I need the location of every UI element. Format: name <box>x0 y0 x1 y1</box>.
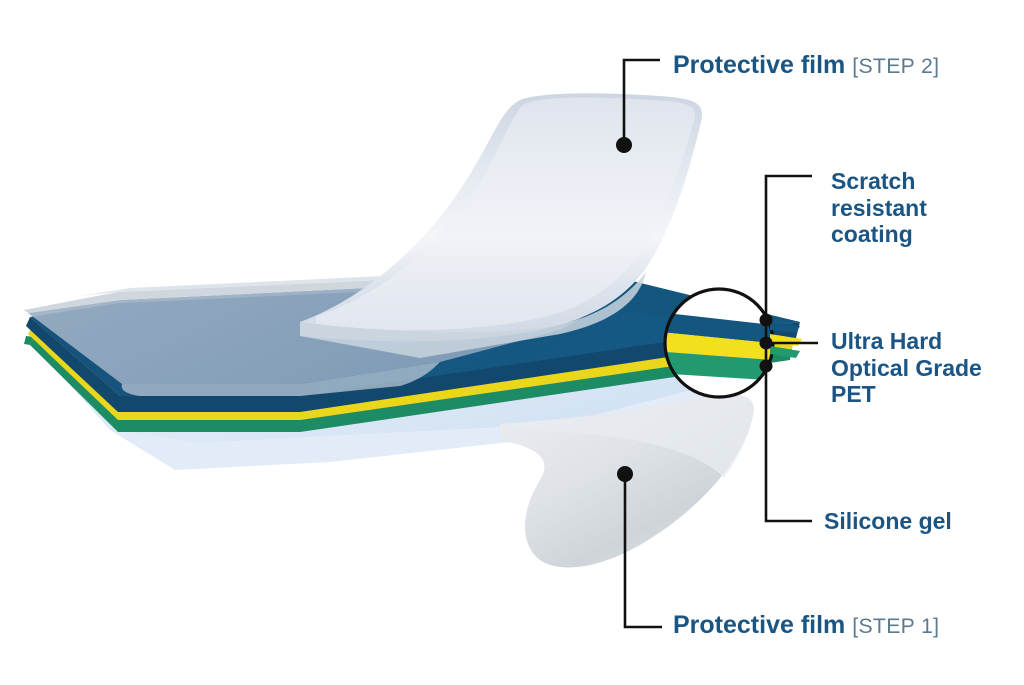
dot-scratch-resistant-coating <box>760 314 773 327</box>
dot-silicone-gel <box>760 360 773 373</box>
label-protective-film-top-step: [STEP 2] <box>852 54 939 78</box>
dot-protective-film-bottom <box>617 466 633 482</box>
label-ultra-line-3: PET <box>831 381 982 408</box>
label-protective-film-bottom-step: [STEP 1] <box>852 614 939 638</box>
label-protective-film-top-name: Protective film <box>673 51 845 79</box>
label-ultra-line-1: Ultra Hard <box>831 328 982 355</box>
label-silicone-gel-name: Silicone gel <box>824 508 952 535</box>
label-scratch-line-1: Scratch <box>831 168 927 195</box>
layer-tips-right <box>770 322 802 358</box>
label-scratch-line-2: resistant <box>831 195 927 222</box>
diagram-canvas: Protective film [STEP 2] Scratch resista… <box>0 0 1024 685</box>
label-scratch-resistant-coating: Scratch resistant coating <box>831 168 927 248</box>
label-ultra-line-2: Optical Grade <box>831 355 982 382</box>
label-ultra-hard-pet: Ultra Hard Optical Grade PET <box>831 328 982 408</box>
label-scratch-line-3: coating <box>831 221 927 248</box>
label-protective-film-bottom-name: Protective film <box>673 611 845 639</box>
dot-protective-film-top <box>616 137 632 153</box>
label-silicone-gel: Silicone gel <box>824 508 952 535</box>
dot-ultra-hard-pet <box>760 337 773 350</box>
label-protective-film-top: Protective film [STEP 2] <box>673 51 939 80</box>
label-protective-film-bottom: Protective film [STEP 1] <box>673 611 939 640</box>
